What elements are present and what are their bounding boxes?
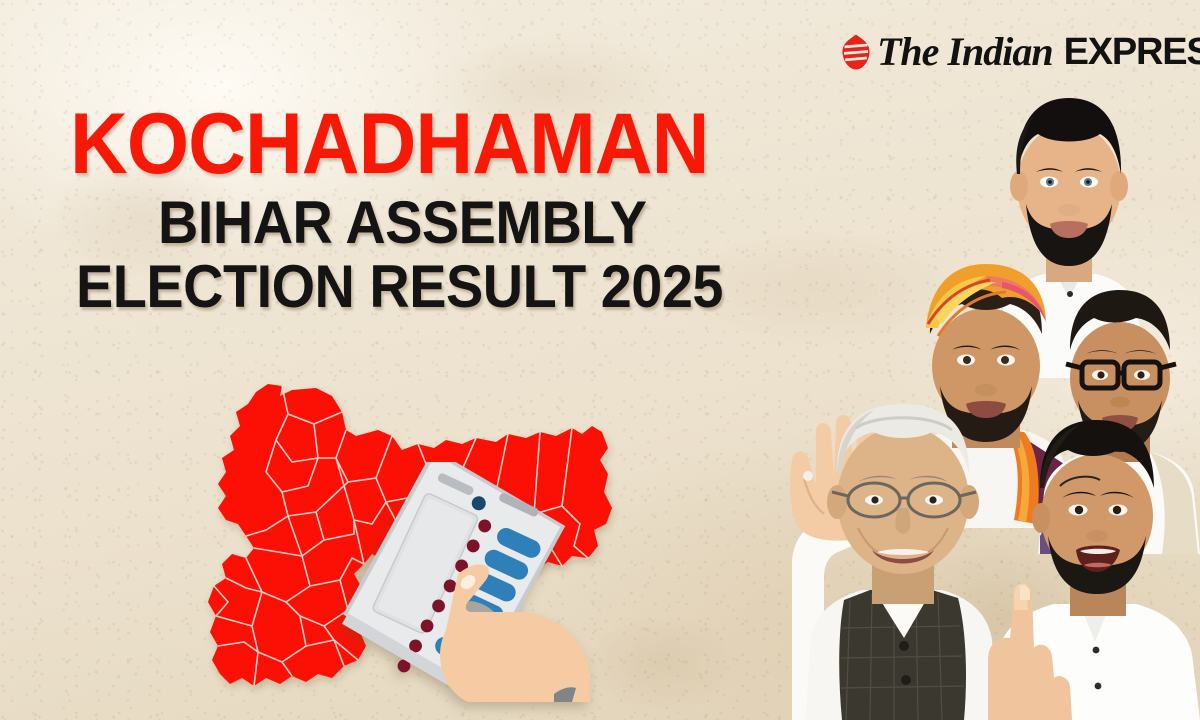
masthead-word-indian: Indian [947,32,1052,72]
headline-subtitle-line2: ELECTION RESULT 2025 [76,259,721,315]
headline-block: KOCHADHAMAN BIHAR ASSEMBLY ELECTION RESU… [70,104,770,316]
headline-subtitle-line1: BIHAR ASSEMBLY [158,195,727,251]
masthead-word-the: The [877,32,938,72]
masthead-word-express: EXPRESS [1064,33,1200,71]
photo-nitish-kumar [746,328,1006,720]
masthead-logo[interactable]: The Indian EXPRESS [842,32,1200,72]
leaders-photo-collage [736,78,1200,720]
headline-constituency: KOCHADHAMAN [70,104,721,185]
photo-tejashwi-yadav [984,410,1200,720]
poster-canvas: The Indian EXPRESS KOCHADHAMAN BIHAR ASS… [0,0,1200,720]
indian-express-flame-icon [842,34,870,70]
electronic-voting-machine [318,462,608,702]
evm-graphic [318,462,608,702]
